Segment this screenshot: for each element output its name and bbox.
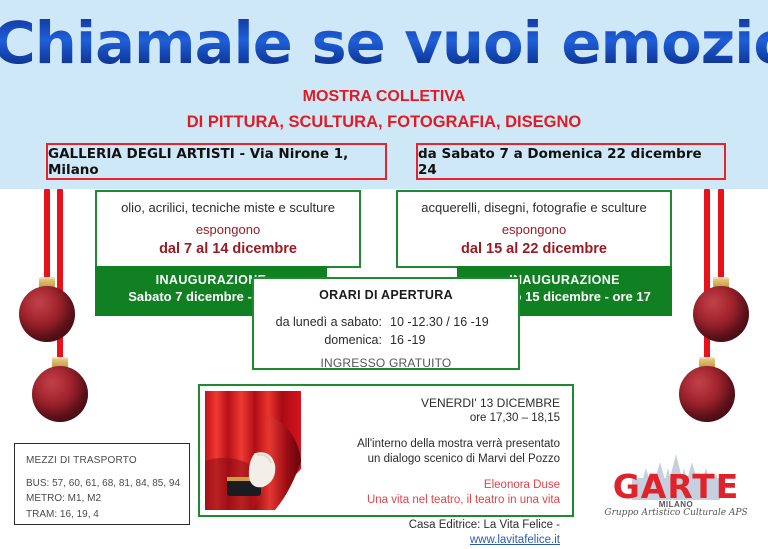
hours-value: 10 -12.30 / 16 -19: [390, 313, 506, 331]
event-subtitle: Una vita nel teatro, il teatro in una vi…: [331, 493, 560, 509]
subtitle-primary: MOSTRA COLLETIVA: [0, 88, 768, 106]
dates-box: da Sabato 7 a Domenica 22 dicembre 24: [416, 143, 726, 180]
right-period: dal 15 al 22 dicembre: [398, 241, 670, 257]
hours-row: domenica: 16 -19: [254, 331, 518, 349]
left-period: dal 7 al 14 dicembre: [97, 241, 359, 257]
page-title: Chiamale se vuoi emozioni: [0, 14, 768, 72]
hours-row: da lunedì a sabato: 10 -12.30 / 16 -19: [254, 313, 518, 331]
publisher-link[interactable]: www.lavitafelice.it: [470, 534, 560, 546]
opening-hours-box: ORARI DI APERTURA da lunedì a sabato: 10…: [252, 277, 520, 370]
garte-logo: GARTE MILANO Gruppo Artistico Culturale …: [596, 450, 756, 524]
poster-root: Chiamale se vuoi emozioni MOSTRA COLLETI…: [0, 0, 768, 543]
right-section-media-box: acquerelli, disegni, fotografie e scultu…: [396, 190, 672, 268]
header-band: Chiamale se vuoi emozioni MOSTRA COLLETI…: [0, 0, 768, 189]
venue-box: GALLERIA DEGLI ARTISTI - Via Nirone 1, M…: [46, 143, 387, 180]
ornaments-left: [0, 189, 110, 439]
free-entry-note: INGRESSO GRATUITO: [254, 356, 518, 370]
opening-hours-rows: da lunedì a sabato: 10 -12.30 / 16 -19 d…: [254, 313, 518, 349]
event-title: Eleonora Duse: [331, 478, 560, 494]
curtain-illustration-icon: [205, 391, 327, 510]
ornaments-right: [658, 189, 768, 439]
christmas-ball-icon: [32, 366, 88, 422]
transport-title: MEZZI DI TRASPORTO: [26, 453, 189, 469]
hours-value: 16 -19: [390, 331, 506, 349]
opening-hours-title: ORARI DI APERTURA: [254, 288, 518, 302]
logo-tagline: Gruppo Artistico Culturale APS: [596, 508, 756, 518]
right-media-list: acquerelli, disegni, fotografie e scultu…: [398, 200, 670, 215]
right-verb: espongono: [398, 222, 670, 237]
theatre-curtain-image: [205, 391, 327, 510]
left-verb: espongono: [97, 222, 359, 237]
logo-name: GARTE: [596, 470, 756, 503]
event-box: VENERDI' 13 DICEMBRE ore 17,30 – 18,15 A…: [198, 384, 574, 517]
subtitle-secondary: DI PITTURA, SCULTURA, FOTOGRAFIA, DISEGN…: [0, 113, 768, 132]
christmas-ball-icon: [693, 286, 749, 342]
event-publisher: Casa Editrice: La Vita Felice - www.lavi…: [331, 518, 560, 549]
christmas-ball-icon: [679, 366, 735, 422]
transport-metro: METRO: M1, M2: [26, 491, 189, 507]
transport-bus: BUS: 57, 60, 61, 68, 81, 84, 85, 94: [26, 476, 189, 492]
ribbon-icon: [44, 189, 50, 284]
event-description-line-1: All'interno della mostra verrà presentat…: [331, 437, 560, 453]
hours-label: da lunedì a sabato:: [266, 313, 390, 331]
left-section-media-box: olio, acrilici, tecniche miste e scultur…: [95, 190, 361, 268]
event-hours: ore 17,30 – 18,15: [331, 411, 560, 427]
ribbon-icon: [718, 189, 724, 284]
transport-box: MEZZI DI TRASPORTO BUS: 57, 60, 61, 68, …: [14, 443, 190, 525]
hours-label: domenica:: [266, 331, 390, 349]
transport-tram: TRAM: 16, 19, 4: [26, 507, 189, 523]
left-media-list: olio, acrilici, tecniche miste e scultur…: [97, 200, 359, 215]
event-details: VENERDI' 13 DICEMBRE ore 17,30 – 18,15 A…: [327, 386, 572, 515]
publisher-label: Casa Editrice: La Vita Felice -: [409, 519, 560, 531]
event-description-line-2: un dialogo scenico di Marvi del Pozzo: [331, 452, 560, 468]
christmas-ball-icon: [19, 286, 75, 342]
event-day: VENERDI' 13 DICEMBRE: [331, 395, 560, 411]
